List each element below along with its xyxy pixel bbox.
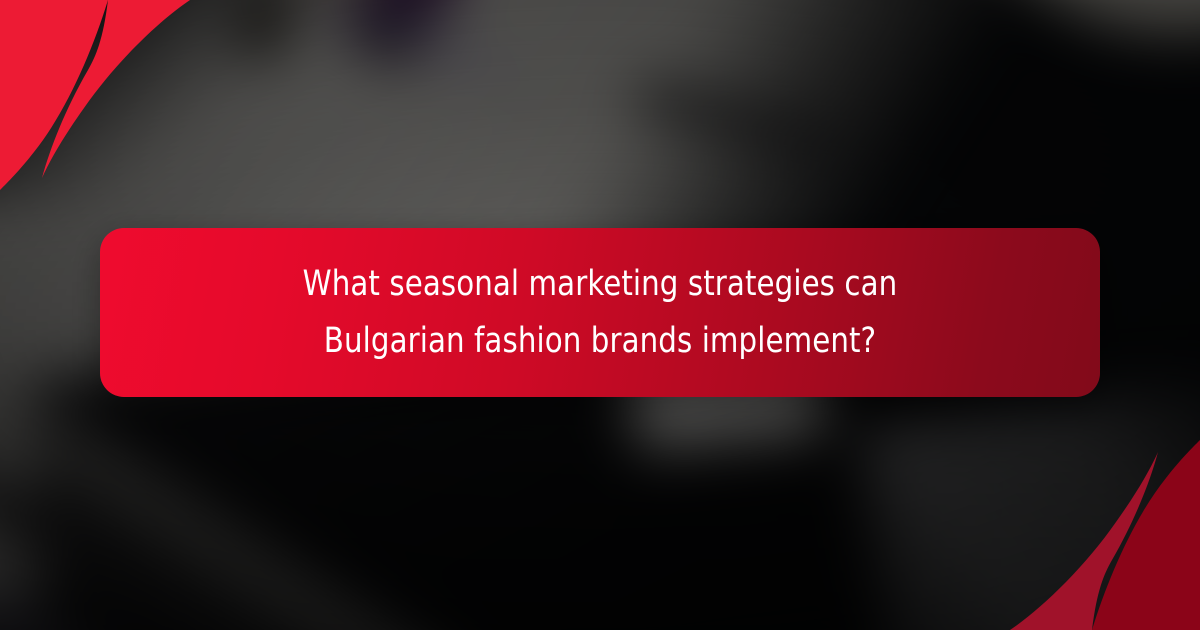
social-share-card: What seasonal marketing strategies can B… bbox=[0, 0, 1200, 630]
question-text: What seasonal marketing strategies can B… bbox=[200, 256, 1000, 370]
question-banner: What seasonal marketing strategies can B… bbox=[100, 228, 1100, 397]
